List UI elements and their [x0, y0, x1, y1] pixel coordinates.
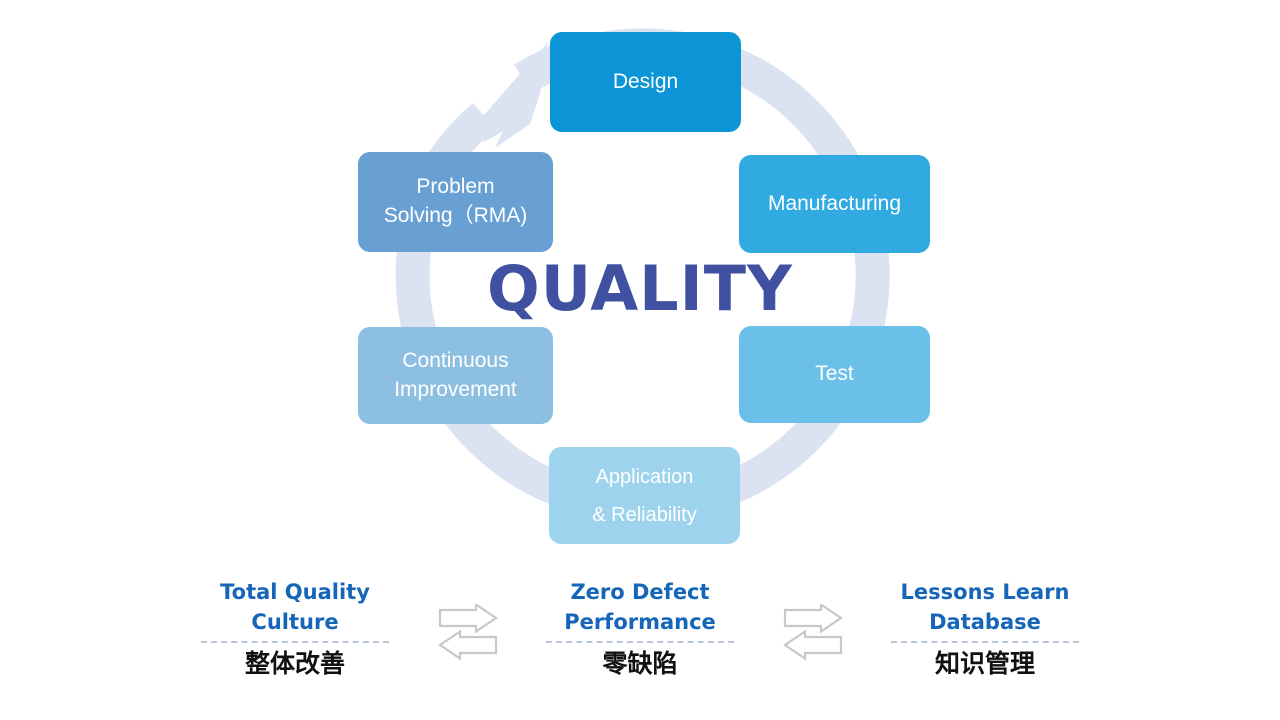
- connector-2: [755, 578, 870, 662]
- pillar-total-quality-culture[interactable]: Total Quality Culture 整体改善: [180, 578, 410, 679]
- pillar-english-label: Lessons Learn Database: [870, 578, 1100, 638]
- bidirectional-arrows-icon: [432, 604, 504, 662]
- process-node-label: Design: [613, 68, 678, 97]
- pillar-english-label: Total Quality Culture: [180, 578, 410, 638]
- process-node-design[interactable]: Design: [550, 32, 741, 132]
- process-node-label: Problem Solving（RMA): [384, 173, 528, 231]
- process-node-label: Manufacturing: [768, 190, 901, 219]
- pillar-chinese-label: 知识管理: [870, 643, 1100, 679]
- process-node-manufacturing[interactable]: Manufacturing: [739, 155, 930, 253]
- slide-canvas: Design Manufacturing Test Application & …: [0, 0, 1280, 720]
- process-node-application-reliability[interactable]: Application & Reliability: [549, 447, 740, 544]
- process-node-label: Continuous Improvement: [394, 347, 517, 405]
- process-node-continuous-improvement[interactable]: Continuous Improvement: [358, 327, 553, 424]
- pillar-chinese-label: 零缺陷: [525, 643, 755, 679]
- pillars-row: Total Quality Culture 整体改善 Zero Defect P…: [0, 578, 1280, 698]
- pillar-zero-defect-performance[interactable]: Zero Defect Performance 零缺陷: [525, 578, 755, 679]
- pillar-english-label: Zero Defect Performance: [525, 578, 755, 638]
- process-node-label: Application & Reliability: [592, 458, 696, 534]
- process-node-label: Test: [815, 360, 854, 389]
- process-node-test[interactable]: Test: [739, 326, 930, 423]
- pillar-chinese-label: 整体改善: [180, 643, 410, 679]
- process-node-problem-solving[interactable]: Problem Solving（RMA): [358, 152, 553, 252]
- bidirectional-arrows-icon: [777, 604, 849, 662]
- pillar-lessons-learn-database[interactable]: Lessons Learn Database 知识管理: [870, 578, 1100, 679]
- center-wordmark: QUALITY: [0, 252, 1280, 325]
- connector-1: [410, 578, 525, 662]
